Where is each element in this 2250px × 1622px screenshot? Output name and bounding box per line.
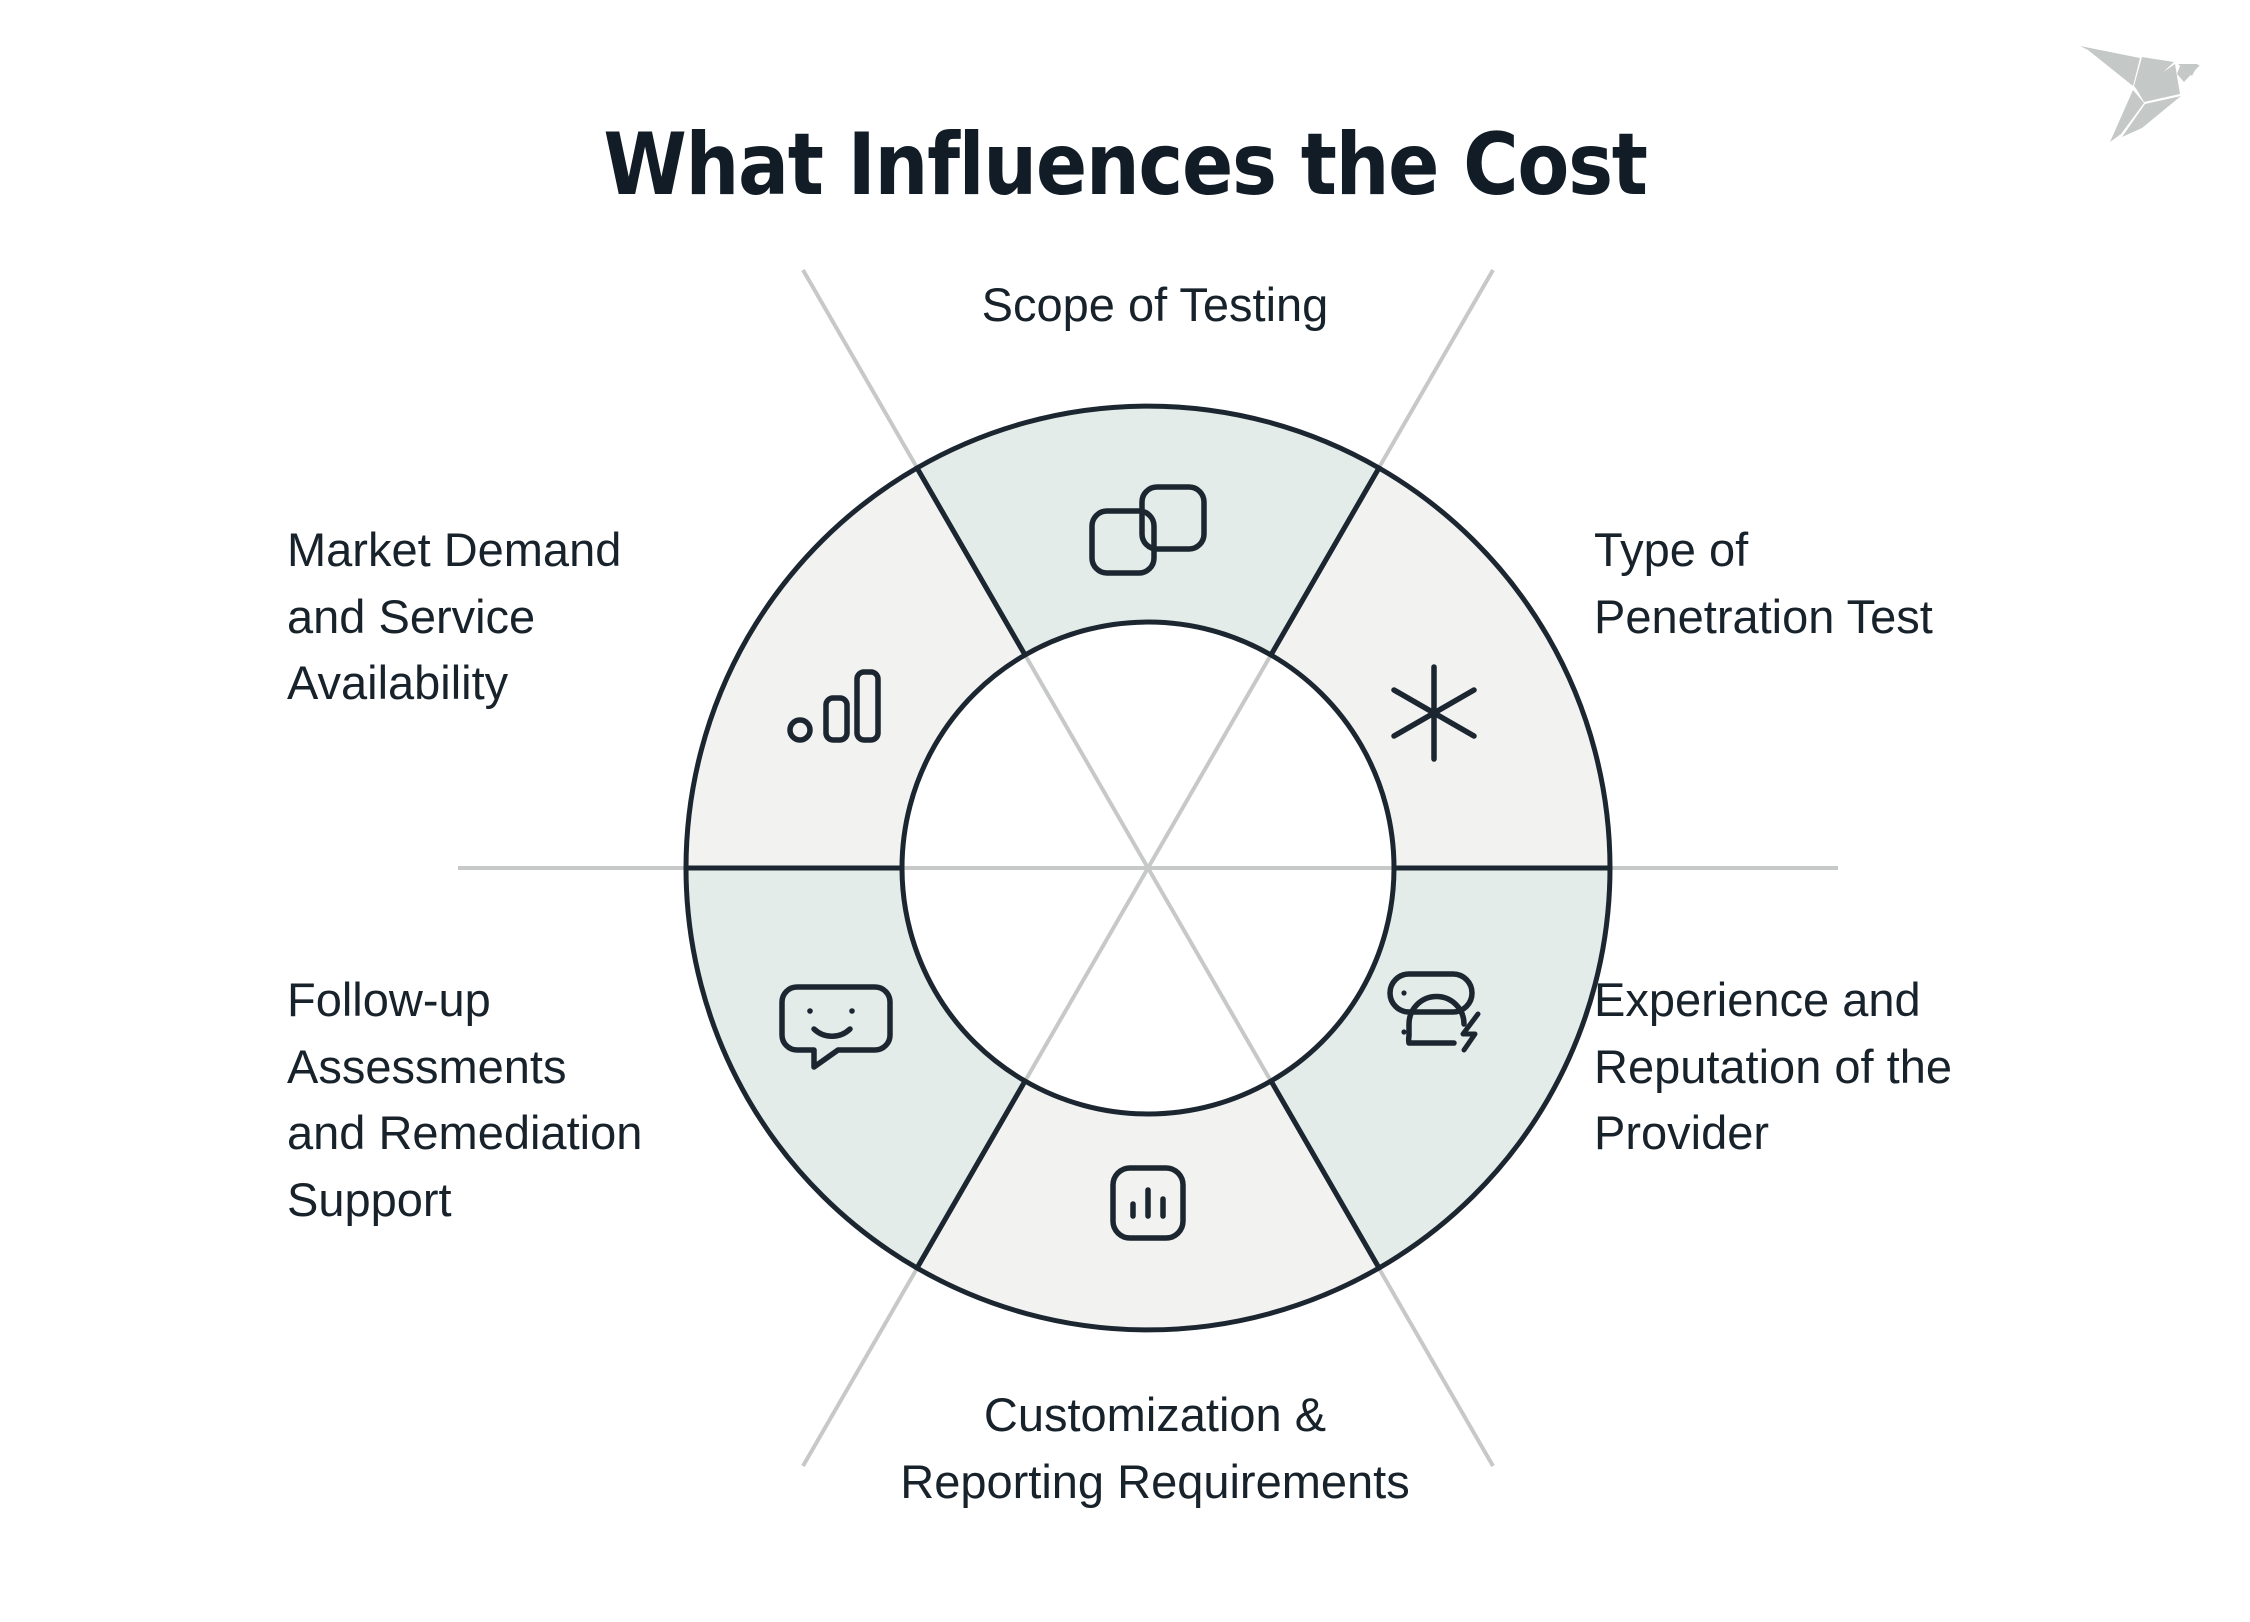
segment-label-follow-up-assessments: Follow-up Assessments and Remediation Su… — [287, 967, 927, 1234]
donut-chart-svg — [0, 0, 2250, 1622]
segment-label-scope-of-testing: Scope of Testing — [760, 272, 1550, 339]
segment-label-experience-and-reputation: Experience and Reputation of the Provide… — [1594, 967, 2234, 1167]
segment-label-market-demand: Market Demand and Service Availability — [287, 517, 907, 717]
segment-label-customization-and-reporting: Customization & Reporting Requirements — [690, 1382, 1620, 1515]
donut-diagram: Scope of Testing Type of Penetration Tes… — [0, 0, 2250, 1622]
segment-label-type-of-penetration-test: Type of Penetration Test — [1594, 517, 2214, 650]
